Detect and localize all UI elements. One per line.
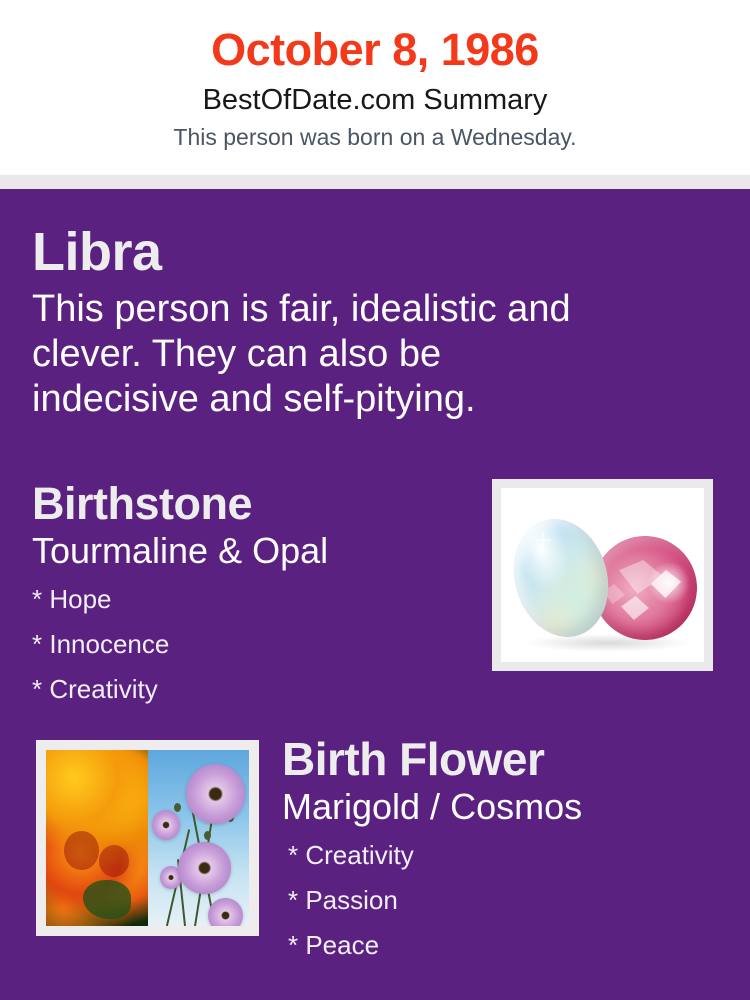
birthstone-image-frame <box>492 479 713 671</box>
zodiac-sign-title: Libra <box>32 221 632 283</box>
zodiac-description: This person is fair, idealistic and clev… <box>32 287 602 422</box>
list-item: * Peace <box>288 923 732 968</box>
foliage <box>83 880 132 919</box>
summary-panel: Libra This person is fair, idealistic an… <box>0 189 750 1000</box>
flower-bud <box>174 803 181 812</box>
sparkle-icon <box>535 532 551 548</box>
birthstone-title: Birthstone <box>32 477 472 531</box>
opal-gem-icon <box>501 508 622 649</box>
born-day-text: This person was born on a Wednesday. <box>0 121 750 153</box>
marigold-photo-half <box>46 750 148 926</box>
header-divider <box>0 175 750 189</box>
birth-flower-title: Birth Flower <box>282 731 732 787</box>
zodiac-section: Libra This person is fair, idealistic an… <box>32 221 632 422</box>
site-summary-label: BestOfDate.com Summary <box>0 80 750 120</box>
cosmos-bloom <box>152 810 180 840</box>
birthstone-traits-list: * Hope * Innocence * Creativity <box>32 577 472 712</box>
marigold-bloom <box>64 831 99 870</box>
cosmos-bloom <box>186 764 245 824</box>
list-item: * Creativity <box>32 667 472 712</box>
page-title-date: October 8, 1986 <box>0 22 750 78</box>
birth-flower-names: Marigold / Cosmos <box>282 785 732 829</box>
list-item: * Creativity <box>288 833 732 878</box>
marigold-bloom <box>99 845 129 877</box>
birthstone-names: Tourmaline & Opal <box>32 529 472 573</box>
birth-flower-traits-list: * Creativity * Passion * Peace <box>288 833 732 968</box>
birth-flower-image <box>46 750 249 926</box>
gem-shadow <box>525 634 691 652</box>
cosmos-photo-half <box>148 750 250 926</box>
cosmos-bloom <box>178 842 231 895</box>
list-item: * Hope <box>32 577 472 622</box>
cosmos-bloom <box>208 898 243 926</box>
flower-bud <box>204 831 211 840</box>
birth-flower-image-frame <box>36 740 259 936</box>
birthstone-image <box>501 488 704 662</box>
birthstone-section: Birthstone Tourmaline & Opal * Hope * In… <box>32 477 472 712</box>
list-item: * Innocence <box>32 622 472 667</box>
birth-flower-section: Birth Flower Marigold / Cosmos * Creativ… <box>282 731 732 968</box>
list-item: * Passion <box>288 878 732 923</box>
page-header: October 8, 1986 BestOfDate.com Summary T… <box>0 0 750 175</box>
